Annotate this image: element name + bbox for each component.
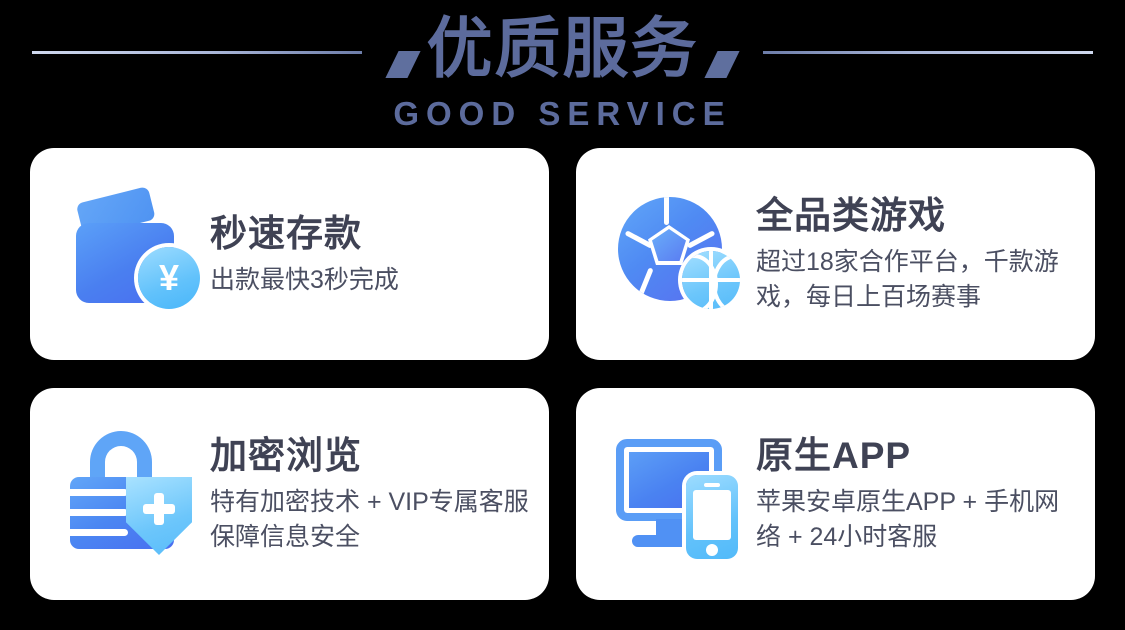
soccer-seam [687,230,716,248]
feature-card-text: 秒速存款 出款最快3秒完成 [210,211,549,298]
soccer-seam [635,267,653,301]
card-description: 超过18家合作平台，千款游戏，每日上百场赛事 [756,245,1081,315]
feature-card-games[interactable]: 全品类游戏 超过18家合作平台，千款游戏，每日上百场赛事 [576,148,1095,360]
basketball-seam [712,254,740,309]
feature-card-native-app[interactable]: 原生APP 苹果安卓原生APP + 手机网络 + 24小时客服 [576,388,1095,600]
card-title: 加密浏览 [210,433,535,479]
phone-icon [686,475,738,559]
feature-card-text: 全品类游戏 超过18家合作平台，千款游戏，每日上百场赛事 [756,193,1095,315]
feature-card-text: 加密浏览 特有加密技术 + VIP专属客服保障信息安全 [210,433,549,555]
feature-card-deposit[interactable]: ¥ 秒速存款 出款最快3秒完成 [30,148,549,360]
basketball-icon [682,251,740,309]
cross-icon [143,493,175,525]
feature-card-text: 原生APP 苹果安卓原生APP + 手机网络 + 24小时客服 [756,433,1095,555]
wallet-yen-icon: ¥ [64,185,202,323]
card-title: 秒速存款 [210,211,535,257]
card-title: 原生APP [756,433,1081,479]
yen-coin-icon: ¥ [138,247,200,309]
soccer-seam [625,230,654,248]
soccer-seam [664,197,669,225]
lock-shield-icon [64,425,202,563]
feature-card-encryption[interactable]: 加密浏览 特有加密技术 + VIP专属客服保障信息安全 [30,388,549,600]
soccer-basketball-icon [610,185,748,323]
card-description: 特有加密技术 + VIP专属客服保障信息安全 [210,485,535,555]
phone-screen [693,490,731,540]
page-subtitle: GOOD SERVICE [0,94,1125,134]
page-title: 优质服务 [0,6,1125,90]
card-title: 全品类游戏 [756,193,1081,239]
phone-home-button [706,544,718,556]
monitor-phone-icon [610,425,748,563]
card-description: 苹果安卓原生APP + 手机网络 + 24小时客服 [756,485,1081,555]
lock-stripe [70,509,128,516]
lock-stripe [70,489,128,496]
lock-stripe [70,529,128,536]
phone-speaker [704,483,720,487]
card-description: 出款最快3秒完成 [210,263,535,298]
feature-card-grid: ¥ 秒速存款 出款最快3秒完成 全品类游戏 超过18家合作平 [30,148,1095,600]
page-header: 优质服务 GOOD SERVICE [0,0,1125,145]
